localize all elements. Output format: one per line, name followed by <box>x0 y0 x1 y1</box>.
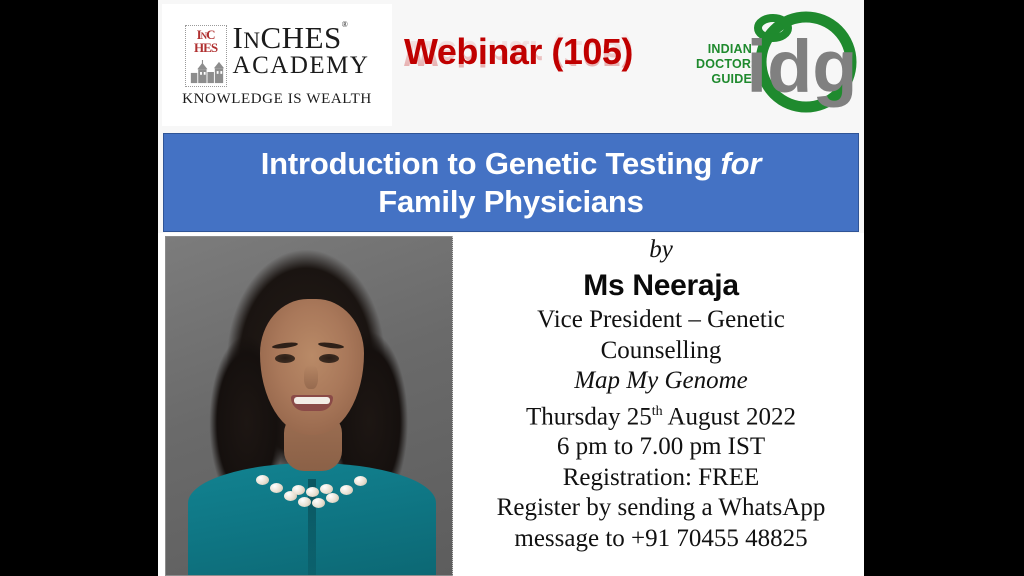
academy-word: ACADEMY <box>233 54 370 79</box>
svg-text:idg: idg <box>748 25 857 108</box>
speaker-role-line-2: Counselling <box>458 336 864 367</box>
idg-line-doctors: DOCTORS <box>696 57 752 72</box>
inches-word: INCHES® <box>233 23 370 53</box>
event-date: Thursday 25th August 2022 <box>458 397 864 433</box>
title-part-2: Family Physicians <box>378 184 643 219</box>
inches-wordmark: INCHES® ACADEMY <box>233 23 370 79</box>
event-date-ordinal: th <box>652 404 663 419</box>
registration-fee: Registration: FREE <box>458 463 864 494</box>
webinar-title-banner: Introduction to Genetic Testing forFamil… <box>163 133 859 232</box>
idg-line-guide: GUIDE <box>696 72 752 87</box>
speaker-portrait-image <box>166 237 452 575</box>
slide-content: INCHES <box>158 0 864 576</box>
eye-right <box>319 354 339 363</box>
speaker-role-line-1: Vice President – Genetic <box>458 305 864 336</box>
stamp-building-icon <box>189 60 226 84</box>
register-instruction-line-2: message to +91 70455 48825 <box>458 524 864 555</box>
idg-logo: INDIAN DOCTORS GUIDE idg <box>696 6 860 124</box>
stamp-letters: INCHES <box>186 29 226 54</box>
speaker-photo <box>165 236 453 576</box>
register-instruction-line-1: Register by sending a WhatsApp <box>458 493 864 524</box>
event-date-prefix: Thursday 25 <box>526 403 652 430</box>
nose <box>304 365 318 389</box>
inches-tagline: KNOWLEDGE IS WEALTH <box>182 91 372 108</box>
inches-academy-logo: INCHES <box>162 4 392 126</box>
idg-fullname: INDIAN DOCTORS GUIDE <box>696 42 752 87</box>
speaker-name: Ms Neeraja <box>458 267 864 305</box>
title-italic-for: for <box>721 146 762 181</box>
eye-left <box>275 354 295 363</box>
body-area: by Ms Neeraja Vice President – Genetic C… <box>158 233 864 576</box>
webinar-number-block: Webinar (105) Webinar (105) <box>404 30 660 120</box>
header-band: INCHES <box>158 0 864 131</box>
webinar-label-reflection: Webinar (105) <box>404 31 660 75</box>
slide-stage: INCHES <box>0 0 1024 576</box>
teeth <box>294 397 330 404</box>
pearl-necklace <box>254 471 370 513</box>
idg-line-indian: INDIAN <box>696 42 752 57</box>
idg-circle-monogram-icon: idg <box>748 6 860 122</box>
speaker-details: by Ms Neeraja Vice President – Genetic C… <box>458 233 864 576</box>
inches-stamp-icon: INCHES <box>185 25 227 87</box>
by-label: by <box>458 235 864 265</box>
webinar-title: Introduction to Genetic Testing forFamil… <box>251 145 771 221</box>
title-part-1: Introduction to Genetic Testing <box>261 146 721 181</box>
event-time: 6 pm to 7.00 pm IST <box>458 432 864 463</box>
event-date-rest: August 2022 <box>663 403 796 430</box>
speaker-organization: Map My Genome <box>458 366 864 397</box>
registered-trademark-icon: ® <box>342 20 349 29</box>
mouth <box>291 395 333 411</box>
